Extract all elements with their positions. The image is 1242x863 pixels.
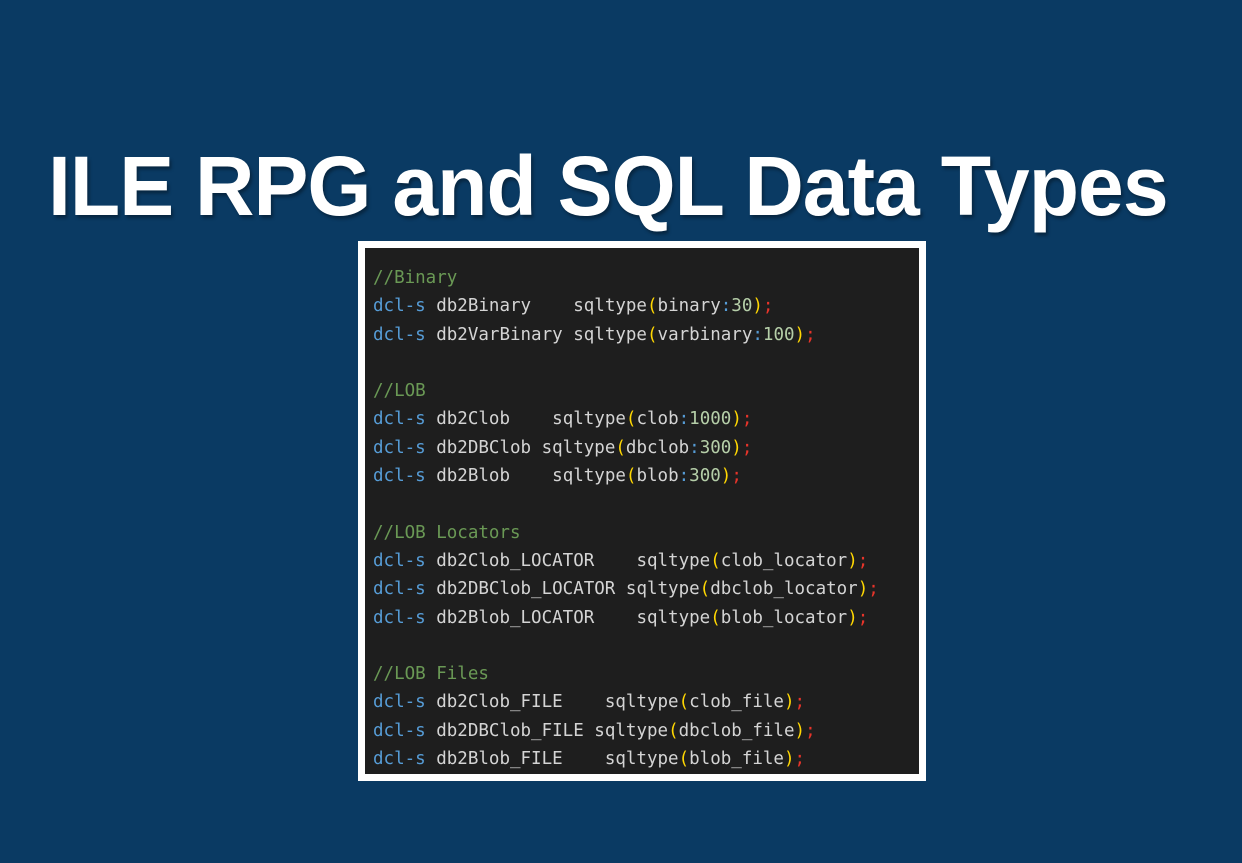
code-declaration-line: dcl-s db2VarBinary sqltype(varbinary:100… (373, 325, 816, 345)
close-paren-token: ) (752, 296, 763, 316)
keyword-token: dcl-s (373, 749, 426, 769)
open-paren-token: ( (679, 692, 690, 712)
keyword-token: dcl-s (373, 579, 426, 599)
open-paren-token: ( (626, 466, 637, 486)
keyword-token: dcl-s (373, 608, 426, 628)
comment-token: //LOB Files (373, 664, 489, 684)
code-declaration-line: dcl-s db2Binary sqltype(binary:30); (373, 296, 773, 316)
code-declaration-line: dcl-s db2DBClob_LOCATOR sqltype(dbclob_l… (373, 579, 879, 599)
function-token: sqltype (552, 409, 626, 429)
type-token: blob_locator (721, 608, 847, 628)
close-paren-token: ) (858, 579, 869, 599)
close-paren-token: ) (721, 466, 732, 486)
open-paren-token: ( (647, 325, 658, 345)
function-token: sqltype (542, 438, 616, 458)
close-paren-token: ) (784, 692, 795, 712)
close-paren-token: ) (731, 409, 742, 429)
open-paren-token: ( (647, 296, 658, 316)
keyword-token: dcl-s (373, 438, 426, 458)
semicolon-token: ; (742, 409, 753, 429)
semicolon-token: ; (795, 692, 806, 712)
function-token: sqltype (573, 325, 647, 345)
semicolon-token: ; (805, 325, 816, 345)
code-block: //Binary dcl-s db2Binary sqltype(binary:… (373, 264, 919, 773)
identifier-token: db2Clob_LOCATOR (436, 551, 594, 571)
identifier-token: db2DBClob (436, 438, 531, 458)
code-declaration-line: dcl-s db2Clob_FILE sqltype(clob_file); (373, 692, 805, 712)
identifier-token: db2Binary (436, 296, 531, 316)
semicolon-token: ; (805, 721, 816, 741)
code-declaration-line: dcl-s db2DBClob sqltype(dbclob:300); (373, 438, 752, 458)
open-paren-token: ( (710, 608, 721, 628)
keyword-token: dcl-s (373, 466, 426, 486)
type-token: dbclob_locator (710, 579, 858, 599)
code-declaration-line: dcl-s db2Blob_LOCATOR sqltype(blob_locat… (373, 608, 868, 628)
identifier-token: db2DBClob_LOCATOR (436, 579, 615, 599)
keyword-token: dcl-s (373, 325, 426, 345)
slide-canvas: ILE RPG and SQL Data Types //Binary dcl-… (0, 0, 1242, 863)
function-token: sqltype (626, 579, 700, 599)
semicolon-token: ; (795, 749, 806, 769)
code-comment-line: //LOB Locators (373, 523, 521, 543)
function-token: sqltype (636, 551, 710, 571)
function-token: sqltype (552, 466, 626, 486)
comment-token: //LOB (373, 381, 426, 401)
semicolon-token: ; (868, 579, 879, 599)
number-token: 300 (700, 438, 732, 458)
identifier-token: db2VarBinary (436, 325, 562, 345)
type-token: clob_file (689, 692, 784, 712)
semicolon-token: ; (742, 438, 753, 458)
code-declaration-line: dcl-s db2Clob sqltype(clob:1000); (373, 409, 752, 429)
open-paren-token: ( (700, 579, 711, 599)
colon-token: : (752, 325, 763, 345)
colon-token: : (679, 466, 690, 486)
comment-token: //Binary (373, 268, 457, 288)
type-token: dbclob (626, 438, 689, 458)
comment-token: //LOB Locators (373, 523, 521, 543)
colon-token: : (721, 296, 732, 316)
open-paren-token: ( (615, 438, 626, 458)
close-paren-token: ) (847, 551, 858, 571)
close-paren-token: ) (847, 608, 858, 628)
function-token: sqltype (636, 608, 710, 628)
keyword-token: dcl-s (373, 409, 426, 429)
close-paren-token: ) (731, 438, 742, 458)
code-declaration-line: dcl-s db2Blob_FILE sqltype(blob_file); (373, 749, 805, 769)
identifier-token: db2Blob_LOCATOR (436, 608, 594, 628)
open-paren-token: ( (626, 409, 637, 429)
code-declaration-line: dcl-s db2Clob_LOCATOR sqltype(clob_locat… (373, 551, 868, 571)
function-token: sqltype (605, 692, 679, 712)
function-token: sqltype (594, 721, 668, 741)
function-token: sqltype (605, 749, 679, 769)
keyword-token: dcl-s (373, 721, 426, 741)
number-token: 1000 (689, 409, 731, 429)
identifier-token: db2Blob (436, 466, 510, 486)
open-paren-token: ( (679, 749, 690, 769)
colon-token: : (689, 438, 700, 458)
open-paren-token: ( (710, 551, 721, 571)
identifier-token: db2Blob_FILE (436, 749, 562, 769)
type-token: blob_file (689, 749, 784, 769)
keyword-token: dcl-s (373, 296, 426, 316)
type-token: binary (658, 296, 721, 316)
keyword-token: dcl-s (373, 551, 426, 571)
code-block-frame: //Binary dcl-s db2Binary sqltype(binary:… (358, 241, 926, 781)
code-comment-line: //Binary (373, 268, 457, 288)
number-token: 100 (763, 325, 795, 345)
identifier-token: db2Clob_FILE (436, 692, 562, 712)
type-token: clob_locator (721, 551, 847, 571)
keyword-token: dcl-s (373, 692, 426, 712)
colon-token: : (679, 409, 690, 429)
close-paren-token: ) (795, 325, 806, 345)
semicolon-token: ; (858, 551, 869, 571)
type-token: clob (636, 409, 678, 429)
type-token: varbinary (658, 325, 753, 345)
code-comment-line: //LOB Files (373, 664, 489, 684)
close-paren-token: ) (784, 749, 795, 769)
code-block-surface: //Binary dcl-s db2Binary sqltype(binary:… (365, 248, 919, 774)
close-paren-token: ) (795, 721, 806, 741)
number-token: 300 (689, 466, 721, 486)
type-token: dbclob_file (679, 721, 795, 741)
identifier-token: db2Clob (436, 409, 510, 429)
number-token: 30 (731, 296, 752, 316)
semicolon-token: ; (763, 296, 774, 316)
function-token: sqltype (573, 296, 647, 316)
page-title: ILE RPG and SQL Data Types (48, 138, 1175, 234)
code-comment-line: //LOB (373, 381, 426, 401)
code-declaration-line: dcl-s db2Blob sqltype(blob:300); (373, 466, 742, 486)
type-token: blob (636, 466, 678, 486)
semicolon-token: ; (858, 608, 869, 628)
identifier-token: db2DBClob_FILE (436, 721, 584, 741)
open-paren-token: ( (668, 721, 679, 741)
semicolon-token: ; (731, 466, 742, 486)
code-declaration-line: dcl-s db2DBClob_FILE sqltype(dbclob_file… (373, 721, 816, 741)
